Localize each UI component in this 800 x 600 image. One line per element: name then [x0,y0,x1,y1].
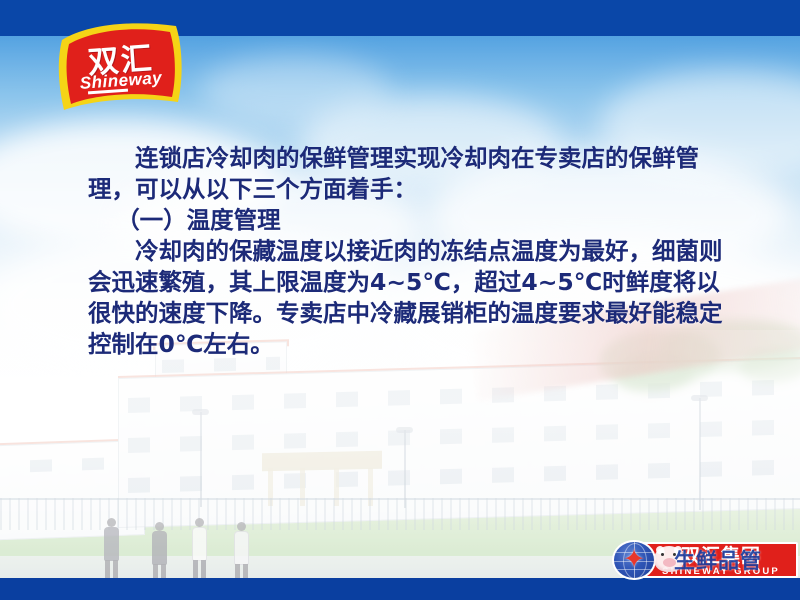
lamp-post [699,398,701,510]
lamp-head [691,395,708,401]
shineway-flag-logo: 双汇 Shineway [54,18,188,110]
tree-foliage [740,348,800,382]
flag-shape-icon [54,18,188,110]
lamp-post [200,412,202,507]
slide-canvas: 双汇 Shineway 连锁店冷却肉的保鲜管理实现冷却肉在专卖店的保鲜管理，可以… [0,0,800,600]
entrance-canopy [262,451,382,472]
lamp-head [396,427,413,433]
lamp-post [404,430,406,508]
paragraph-temperature-detail: 冷却肉的保藏温度以接近肉的冻结点温度为最好，细菌则会迅速繁殖，其上限温度为4~5… [88,236,738,360]
watermark-cn-text: 生鲜品管 [674,547,792,573]
lamp-head [192,409,209,415]
cloud-shape [200,55,390,125]
footer-logo-group: ✦ 双汇集团 SHINEWAY GROUP 生鲜品管 [612,536,798,584]
star-icon: ✦ [623,546,646,573]
paragraph-intro: 连锁店冷却肉的保鲜管理实现冷却肉在专卖店的保鲜管理，可以从以下三个方面着手： [88,143,738,205]
perimeter-fence [0,498,800,530]
slide-body-text: 连锁店冷却肉的保鲜管理实现冷却肉在专卖店的保鲜管理，可以从以下三个方面着手： （… [88,143,738,360]
section-heading-temperature: （一）温度管理 [88,205,738,236]
